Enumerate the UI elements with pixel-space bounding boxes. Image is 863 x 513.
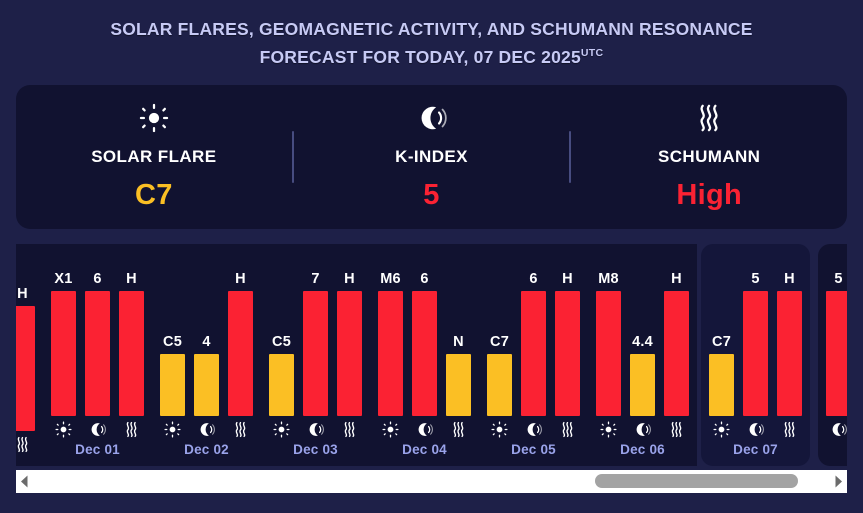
day-column[interactable]: M84.4HDec 06: [588, 244, 697, 466]
left-arrow-icon[interactable]: [16, 470, 33, 493]
moon-icon: [826, 421, 847, 438]
bar-value-label: H: [562, 271, 573, 287]
bar-slot[interactable]: 6: [521, 252, 546, 416]
day-column[interactable]: X16HDec 01: [43, 244, 152, 466]
day-bars: 5N/AN/A: [826, 252, 847, 416]
bar-slot[interactable]: X1: [51, 252, 76, 416]
bar[interactable]: [412, 291, 437, 416]
day-date-label: Dec 05: [487, 440, 580, 466]
summary-value-schumann: High: [676, 179, 742, 212]
bar[interactable]: [16, 306, 35, 431]
horizontal-scrollbar[interactable]: [16, 470, 847, 493]
bar-value-label: 6: [529, 271, 537, 287]
day-bars: C75H: [709, 252, 802, 416]
bar-value-label: 6: [420, 271, 428, 287]
bar-value-label: X1: [54, 271, 72, 287]
day-column[interactable]: C54HDec 02: [152, 244, 261, 466]
day-column[interactable]: M66NDec 04: [370, 244, 479, 466]
forecast-chart: HX16HDec 01C54HDec 02C57HDec 03M66NDec 0…: [16, 244, 847, 466]
day-date-label: Dec 03: [269, 440, 362, 466]
bar-value-label: 4: [202, 334, 210, 350]
bar-slot[interactable]: H: [228, 252, 253, 416]
page-title-utc-superscript: UTC: [581, 47, 603, 59]
bar-slot[interactable]: 4: [194, 252, 219, 416]
page-title-line2-text: FORECAST FOR TODAY, 07 DEC 2025: [260, 47, 581, 67]
bar-value-label: C7: [712, 334, 731, 350]
bar-slot[interactable]: N: [446, 252, 471, 416]
bar[interactable]: [664, 291, 689, 416]
day-metric-icons: [16, 431, 35, 455]
page-title-line2: FORECAST FOR TODAY, 07 DEC 2025UTC: [0, 41, 863, 69]
day-column[interactable]: C75HDec 07: [701, 244, 810, 466]
waves-icon: [228, 421, 253, 438]
bar-value-label: H: [126, 271, 137, 287]
day-metric-icons: [378, 416, 471, 440]
bar-slot[interactable]: C5: [160, 252, 185, 416]
page-title: SOLAR FLARES, GEOMAGNETIC ACTIVITY, AND …: [0, 0, 863, 69]
bar-slot[interactable]: C7: [709, 252, 734, 416]
bar[interactable]: [160, 354, 185, 416]
day-metric-icons: [709, 416, 802, 440]
space-weather-forecast-page: SOLAR FLARES, GEOMAGNETIC ACTIVITY, AND …: [0, 0, 863, 513]
summary-card: SOLAR FLARE C7 K-INDEX 5: [16, 85, 847, 229]
day-bars: X16H: [51, 252, 144, 416]
bar[interactable]: [194, 354, 219, 416]
day-bars: M84.4H: [596, 252, 689, 416]
bar-value-label: H: [671, 271, 682, 287]
moon-icon: [630, 421, 655, 438]
day-bars: M66N: [378, 252, 471, 416]
bar[interactable]: [555, 291, 580, 416]
bar-slot[interactable]: M8: [596, 252, 621, 416]
day-metric-icons: [596, 416, 689, 440]
bar-value-label: M6: [380, 271, 401, 287]
sun-icon: [139, 101, 169, 135]
bar[interactable]: [269, 354, 294, 416]
chart-bars-strip: HX16HDec 01C54HDec 02C57HDec 03M66NDec 0…: [16, 244, 847, 466]
bar[interactable]: [85, 291, 110, 416]
scrollbar-thumb[interactable]: [595, 474, 798, 488]
bar-slot[interactable]: H: [664, 252, 689, 416]
bar-slot[interactable]: M6: [378, 252, 403, 416]
bar[interactable]: [709, 354, 734, 416]
summary-cell-schumann[interactable]: SCHUMANN High: [571, 85, 847, 229]
waves-icon: [337, 421, 362, 438]
waves-icon: [695, 101, 723, 135]
moon-icon: [303, 421, 328, 438]
day-date-label: Dec 06: [596, 440, 689, 466]
bar-slot[interactable]: 5: [826, 252, 847, 416]
day-column[interactable]: C76HDec 05: [479, 244, 588, 466]
bar-value-label: H: [17, 286, 28, 302]
bar-value-label: N: [453, 334, 464, 350]
bar[interactable]: [119, 291, 144, 416]
summary-cell-k-index[interactable]: K-INDEX 5: [294, 85, 570, 229]
bar-slot[interactable]: C5: [269, 252, 294, 416]
bar[interactable]: [446, 354, 471, 416]
day-date-label: Dec 08: [826, 440, 847, 466]
day-metric-icons: [51, 416, 144, 440]
waves-icon: [664, 421, 689, 438]
bar-slot[interactable]: 6: [412, 252, 437, 416]
bar[interactable]: [743, 291, 768, 416]
summary-label-solar-flare: SOLAR FLARE: [91, 147, 216, 167]
bar-slot[interactable]: H: [555, 252, 580, 416]
sun-icon: [596, 421, 621, 438]
bar-slot[interactable]: H: [337, 252, 362, 416]
day-metric-icons: [269, 416, 362, 440]
page-title-line1: SOLAR FLARES, GEOMAGNETIC ACTIVITY, AND …: [0, 17, 863, 41]
bar-value-label: C5: [272, 334, 291, 350]
bar-slot[interactable]: 5: [743, 252, 768, 416]
bar-slot[interactable]: 7: [303, 252, 328, 416]
sun-icon: [487, 421, 512, 438]
waves-icon: [777, 421, 802, 438]
day-bars: C54H: [160, 252, 253, 416]
day-bars: C57H: [269, 252, 362, 416]
day-column[interactable]: 5N/AN/ADec 08: [818, 244, 847, 466]
bar-slot[interactable]: C7: [487, 252, 512, 416]
waves-icon: [16, 436, 35, 453]
summary-cell-solar-flare[interactable]: SOLAR FLARE C7: [16, 85, 292, 229]
bar-value-label: H: [344, 271, 355, 287]
bar[interactable]: [378, 291, 403, 416]
day-metric-icons: [826, 416, 847, 440]
bar-value-label: 4.4: [632, 334, 653, 350]
bar-slot[interactable]: H: [16, 267, 35, 431]
bar-value-label: C7: [490, 334, 509, 350]
bar[interactable]: [826, 291, 847, 416]
bar[interactable]: [228, 291, 253, 416]
right-arrow-icon[interactable]: [830, 470, 847, 493]
day-bars: H: [16, 267, 35, 431]
bar[interactable]: [777, 291, 802, 416]
summary-value-k-index: 5: [423, 179, 439, 212]
bar-value-label: H: [235, 271, 246, 287]
bar-value-label: 6: [93, 271, 101, 287]
sun-icon: [51, 421, 76, 438]
bar-value-label: C5: [163, 334, 182, 350]
waves-icon: [555, 421, 580, 438]
bar[interactable]: [521, 291, 546, 416]
sun-icon: [709, 421, 734, 438]
moon-icon: [412, 421, 437, 438]
day-date-label: [16, 455, 35, 466]
bar[interactable]: [596, 291, 621, 416]
summary-value-solar-flare: C7: [135, 179, 173, 212]
bar-slot[interactable]: 6: [85, 252, 110, 416]
bar-slot[interactable]: H: [777, 252, 802, 416]
day-date-label: Dec 01: [51, 440, 144, 466]
moon-icon: [194, 421, 219, 438]
bar[interactable]: [303, 291, 328, 416]
bar-value-label: H: [784, 271, 795, 287]
bar[interactable]: [630, 354, 655, 416]
summary-label-schumann: SCHUMANN: [658, 147, 760, 167]
waves-icon: [119, 421, 144, 438]
scrollbar-track[interactable]: [33, 470, 830, 493]
summary-label-k-index: K-INDEX: [395, 147, 468, 167]
day-date-label: Dec 02: [160, 440, 253, 466]
bar-value-label: 7: [311, 271, 319, 287]
day-bars: C76H: [487, 252, 580, 416]
moon-icon: [85, 421, 110, 438]
bar[interactable]: [337, 291, 362, 416]
bar[interactable]: [487, 354, 512, 416]
bar[interactable]: [51, 291, 76, 416]
moon-icon: [521, 421, 546, 438]
day-date-label: Dec 04: [378, 440, 471, 466]
day-column[interactable]: C57HDec 03: [261, 244, 370, 466]
day-metric-icons: [160, 416, 253, 440]
sun-icon: [160, 421, 185, 438]
bar-value-label: 5: [751, 271, 759, 287]
waves-icon: [446, 421, 471, 438]
day-metric-icons: [487, 416, 580, 440]
day-date-label: Dec 07: [709, 440, 802, 466]
bar-slot[interactable]: 4.4: [630, 252, 655, 416]
bar-value-label: M8: [598, 271, 619, 287]
moon-icon: [417, 101, 447, 135]
moon-icon: [743, 421, 768, 438]
bar-value-label: 5: [834, 271, 842, 287]
sun-icon: [378, 421, 403, 438]
sun-icon: [269, 421, 294, 438]
chart-scroll-viewport[interactable]: HX16HDec 01C54HDec 02C57HDec 03M66NDec 0…: [16, 244, 847, 466]
day-column[interactable]: H: [16, 244, 43, 466]
bar-slot[interactable]: H: [119, 252, 144, 416]
